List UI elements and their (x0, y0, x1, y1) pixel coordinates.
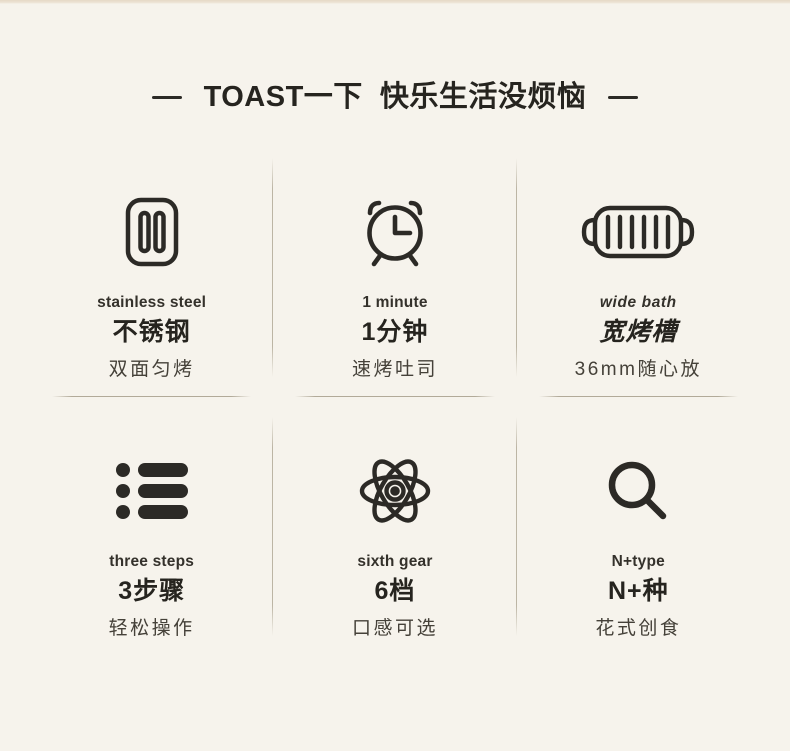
alarm-clock-icon (357, 186, 433, 278)
heading-rule-left (152, 96, 182, 99)
feature-label-en: N+type (612, 553, 665, 570)
feature-label-cn: 宽烤槽 (599, 318, 677, 347)
top-edge-seam (0, 0, 790, 4)
grill-pan-icon (579, 186, 697, 278)
feature-label-cn: N+种 (608, 577, 669, 606)
toaster-slot-icon (125, 186, 179, 278)
feature-card-three-steps: three steps 3步骤 轻松操作 (30, 411, 273, 670)
bullet-list-icon (116, 445, 188, 537)
feature-label-cn: 1分钟 (362, 318, 429, 347)
feature-card-sixth-gear: sixth gear 6档 口感可选 (273, 411, 516, 670)
feature-label-en: three steps (109, 553, 194, 570)
feature-label-cn: 3步骤 (118, 577, 185, 606)
feature-label-sub: 口感可选 (352, 618, 438, 640)
feature-label-sub: 双面匀烤 (109, 359, 195, 381)
feature-label-en: stainless steel (97, 294, 206, 311)
feature-card-n-plus-type: N+type N+种 花式创食 (517, 411, 760, 670)
feature-card-one-minute: 1 minute 1分钟 速烤吐司 (273, 152, 516, 411)
feature-label-en: 1 minute (362, 294, 427, 311)
feature-label-sub: 轻松操作 (109, 618, 195, 640)
feature-label-sub: 花式创食 (595, 618, 681, 640)
feature-grid: stainless steel 不锈钢 双面匀烤 1 minute 1分钟 速烤… (30, 152, 760, 670)
atom-icon (358, 445, 432, 537)
magnifier-icon (607, 445, 669, 537)
feature-card-wide-bath: wide bath 宽烤槽 36mm随心放 (517, 152, 760, 411)
page-title: TOAST一下 快乐生活没烦恼 (204, 83, 587, 112)
feature-card-stainless-steel: stainless steel 不锈钢 双面匀烤 (30, 152, 273, 411)
feature-label-cn: 6档 (375, 577, 416, 606)
feature-label-cn: 不锈钢 (113, 318, 191, 347)
feature-label-en: sixth gear (357, 553, 432, 570)
feature-label-sub: 速烤吐司 (352, 359, 438, 381)
heading-rule-right (608, 96, 638, 99)
feature-label-en: wide bath (600, 294, 677, 311)
feature-label-sub: 36mm随心放 (575, 359, 702, 381)
page-heading: TOAST一下 快乐生活没烦恼 (0, 74, 790, 120)
